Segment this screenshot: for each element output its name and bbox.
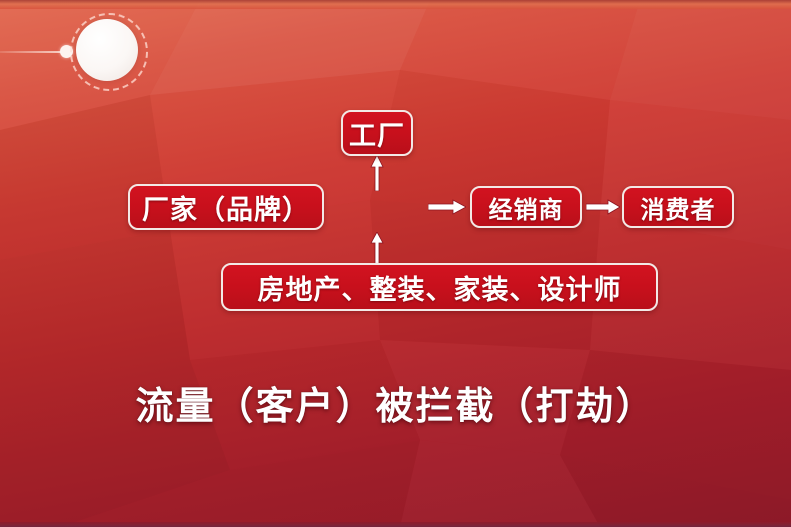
arrow-up-channels-to-brand-icon: [370, 232, 384, 264]
arrow-right-dealer-to-consumer-icon: [586, 198, 620, 216]
diagram-box-consumer[interactable]: 消费者: [622, 186, 734, 228]
slide-caption: 流量（客户）被拦截（打劫）: [0, 375, 791, 430]
white-circle-badge: [76, 19, 138, 81]
diagram-box-channels[interactable]: 房地产、整装、家装、设计师: [221, 263, 658, 311]
arrow-up-brand-to-factory-icon: [370, 155, 384, 191]
diagram-box-dealer[interactable]: 经销商: [470, 186, 582, 228]
diagram-box-factory[interactable]: 工厂: [341, 110, 413, 156]
slide-canvas: 工厂 厂家（品牌） 经销商 消费者 房地产、整装、家装、设计师 流量（客户）被拦…: [0, 0, 791, 527]
diagram-box-brand[interactable]: 厂家（品牌）: [128, 184, 324, 230]
top-highlight-band: [0, 0, 791, 9]
bottom-shadow-band: [0, 522, 791, 527]
arrow-right-brand-to-dealer-icon: [428, 198, 466, 216]
